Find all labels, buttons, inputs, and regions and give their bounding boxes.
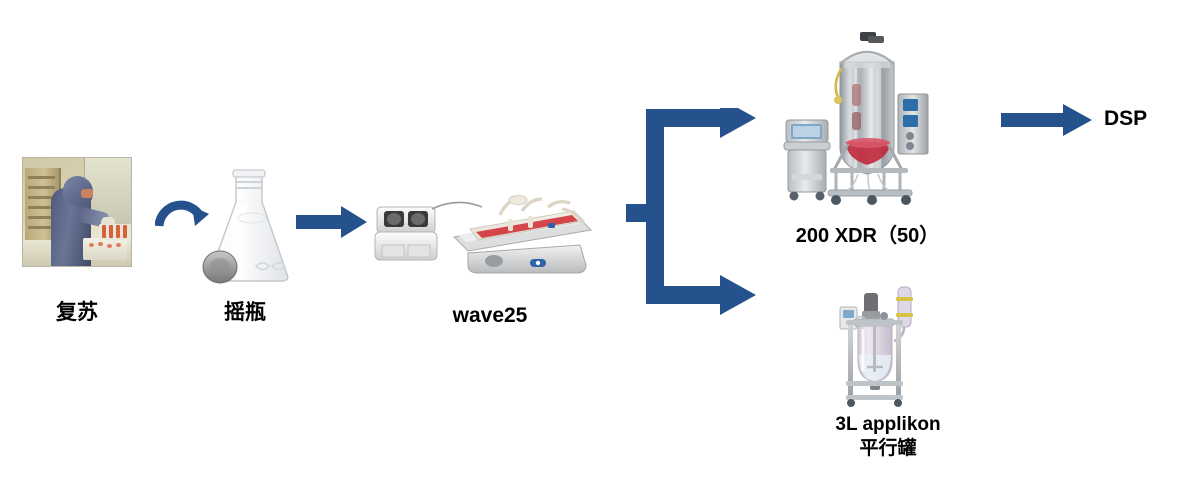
vial-rack-shape: [99, 224, 129, 240]
applikon-bioreactor-image: [826, 283, 938, 407]
xdr-label: 200 XDR（50）: [770, 224, 965, 249]
dsp-label: DSP: [1104, 106, 1184, 132]
wave25-rocker-bioreactor-image: [372, 183, 604, 287]
split-arrow-lower-branch-icon: [624, 208, 760, 320]
sample-tray-shape: [83, 238, 127, 260]
straight-arrow-flask-to-wave25-icon: [296, 205, 368, 239]
straight-arrow-to-dsp-icon: [1001, 103, 1093, 137]
wave25-label: wave25: [415, 303, 565, 329]
thaw-step-photo: [22, 157, 132, 267]
thaw-step-label: 复苏: [7, 300, 147, 326]
shake-flask-label: 摇瓶: [175, 300, 315, 326]
shake-flask-image: [196, 162, 294, 286]
technician-face-shape: [81, 189, 93, 198]
xdr-bioreactor-image: [772, 22, 958, 212]
process-flow-diagram: 复苏: [0, 0, 1197, 493]
applikon-label: 3L applikon 平行罐: [798, 413, 978, 461]
